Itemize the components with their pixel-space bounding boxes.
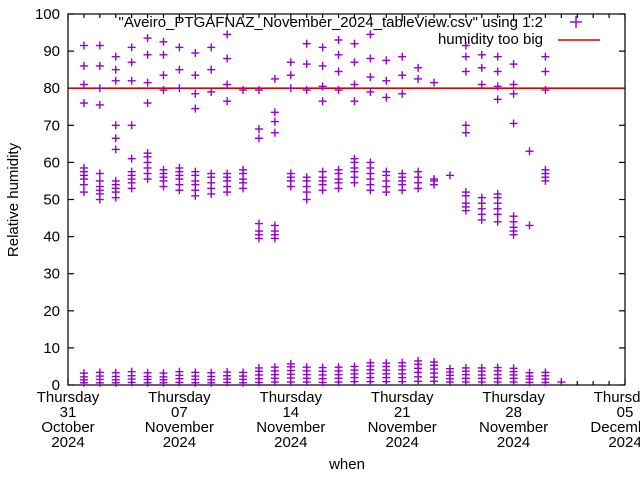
x-tick-label-year: 2024 bbox=[163, 434, 196, 451]
x-tick-label-year: 2024 bbox=[274, 434, 307, 451]
y-tick-label: 50 bbox=[43, 192, 60, 209]
x-axis-label: when bbox=[328, 456, 365, 473]
y-axis-label: Relative humidity bbox=[5, 142, 22, 257]
x-tick-label-year: 2024 bbox=[608, 434, 640, 451]
legend-entry-threshold-label: humidity too big bbox=[438, 31, 543, 48]
gnuplot-figure: Relative humidity when 01020304050607080… bbox=[0, 0, 640, 480]
y-tick-label: 10 bbox=[43, 340, 60, 357]
y-tick-label: 70 bbox=[43, 117, 60, 134]
legend-entry-series-label: "Aveiro_PTGAFNAZ_November_2024_tableView… bbox=[119, 14, 543, 31]
y-tick-label: 20 bbox=[43, 303, 60, 320]
y-tick-label: 100 bbox=[35, 6, 60, 23]
y-tick-label: 60 bbox=[43, 154, 60, 171]
y-tick-label: 30 bbox=[43, 266, 60, 283]
y-tick-label: 80 bbox=[43, 80, 60, 97]
x-tick-label-year: 2024 bbox=[51, 434, 84, 451]
x-tick-label-year: 2024 bbox=[497, 434, 530, 451]
relative-humidity-scatter-plot: Relative humidity when 01020304050607080… bbox=[0, 0, 640, 480]
y-tick-label: 90 bbox=[43, 43, 60, 60]
x-tick-label-year: 2024 bbox=[386, 434, 419, 451]
y-tick-label: 40 bbox=[43, 229, 60, 246]
